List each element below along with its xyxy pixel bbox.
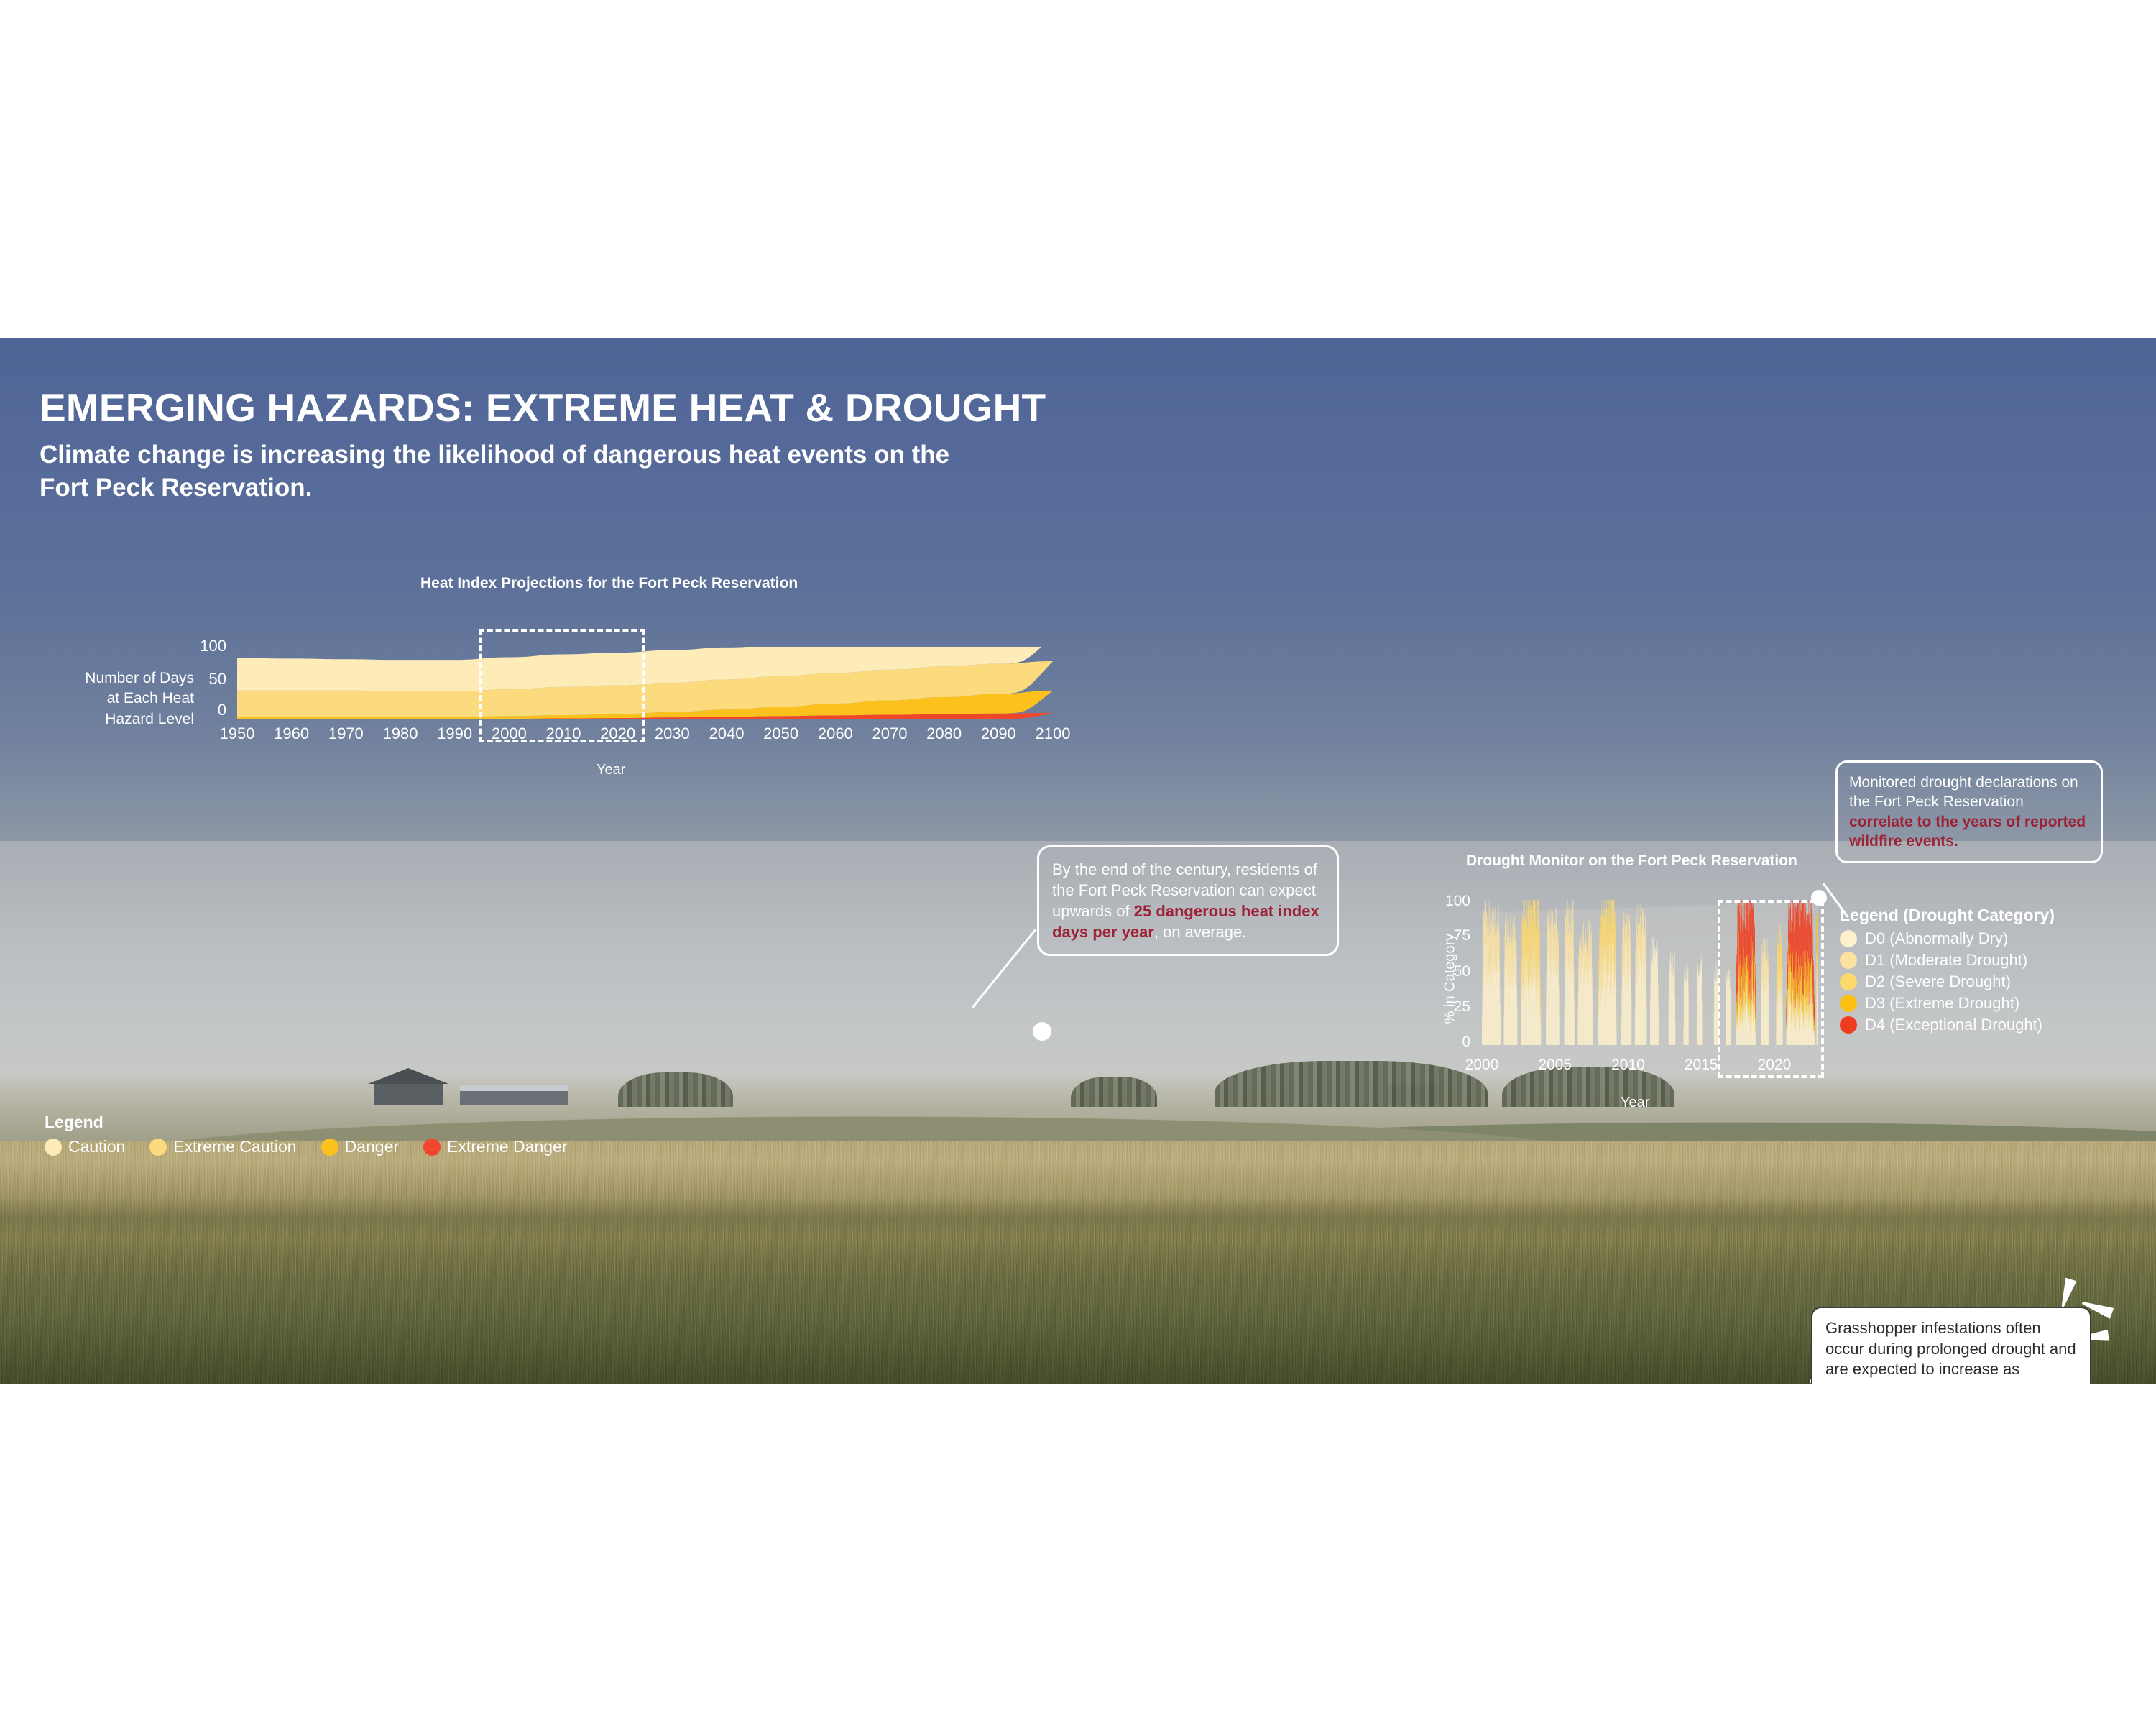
- heat-legend-item: Extreme Caution: [149, 1137, 296, 1156]
- page-title: EMERGING HAZARDS: EXTREME HEAT & DROUGHT: [40, 385, 1046, 431]
- drought-legend-items: D0 (Abnormally Dry)D1 (Moderate Drought)…: [1840, 929, 2055, 1034]
- drought-ytick-50: 50: [1434, 963, 1470, 980]
- drought-chart-x-axis-label: Year: [1621, 1095, 1649, 1111]
- treeline: [618, 1072, 733, 1107]
- drought-legend-label: D4 (Exceptional Drought): [1865, 1016, 2042, 1034]
- heat-legend-label: Extreme Danger: [447, 1137, 567, 1156]
- poster-panel: EMERGING HAZARDS: EXTREME HEAT & DROUGHT…: [0, 338, 2156, 1384]
- drought-xtick-2010: 2010: [1595, 1057, 1660, 1074]
- drought-callout-highlight: correlate to the years of reported wildf…: [1849, 814, 2086, 850]
- drought-xtick-2015: 2015: [1669, 1057, 1733, 1074]
- treeline: [1215, 1061, 1488, 1107]
- infographic-poster: EMERGING HAZARDS: EXTREME HEAT & DROUGHT…: [0, 0, 2156, 1725]
- drought-ytick-100: 100: [1434, 893, 1470, 910]
- legend-swatch-icon: [423, 1138, 441, 1156]
- heat-legend-item: Extreme Danger: [423, 1137, 567, 1156]
- drought-chart-legend: Legend (Drought Category) D0 (Abnormally…: [1840, 906, 2055, 1037]
- grasshopper-callout: Grasshopper infestations often occur dur…: [1811, 1307, 2091, 1384]
- drought-callout-anchor-dot: [1811, 890, 1827, 906]
- legend-swatch-icon: [1840, 1016, 1857, 1034]
- drought-legend-item: D4 (Exceptional Drought): [1840, 1016, 2055, 1034]
- drought-legend-item: D3 (Extreme Drought): [1840, 994, 2055, 1013]
- drought-ytick-75: 75: [1434, 927, 1470, 944]
- drought-ytick-25: 25: [1434, 998, 1470, 1016]
- page-subtitle: Climate change is increasing the likelih…: [40, 438, 1003, 505]
- legend-swatch-icon: [1840, 973, 1857, 990]
- drought-legend-item: D1 (Moderate Drought): [1840, 951, 2055, 970]
- drought-xtick-2005: 2005: [1523, 1057, 1588, 1074]
- heat-legend-label: Danger: [345, 1137, 399, 1156]
- heat-chart-title: Heat Index Projections for the Fort Peck…: [420, 575, 798, 592]
- heat-ytick-0: 0: [176, 701, 226, 719]
- drought-chart-callout: Monitored drought declarations on the Fo…: [1835, 760, 2103, 863]
- drought-xtick-2020: 2020: [1742, 1057, 1807, 1074]
- heat-ytick-50: 50: [176, 670, 226, 689]
- legend-swatch-icon: [149, 1138, 167, 1156]
- drought-legend-label: D1 (Moderate Drought): [1865, 951, 2027, 970]
- heat-legend-label: Extreme Caution: [173, 1137, 296, 1156]
- legend-swatch-icon: [45, 1138, 62, 1156]
- drought-chart-highlight-box: [1718, 900, 1824, 1078]
- heat-callout-text-after: , on average.: [1154, 923, 1246, 941]
- heat-legend-label: Caution: [68, 1137, 125, 1156]
- heat-callout-anchor-dot: [1033, 1022, 1051, 1041]
- drought-legend-title: Legend (Drought Category): [1840, 906, 2055, 925]
- drought-legend-label: D2 (Severe Drought): [1865, 972, 2011, 991]
- heat-ytick-100: 100: [176, 637, 226, 655]
- heat-legend-title: Legend: [45, 1113, 103, 1132]
- farmhouse-building: [374, 1084, 443, 1105]
- legend-swatch-icon: [1840, 930, 1857, 947]
- drought-legend-label: D0 (Abnormally Dry): [1865, 929, 2008, 948]
- drought-legend-item: D0 (Abnormally Dry): [1840, 929, 2055, 948]
- field-light-band: [791, 1172, 2156, 1206]
- legend-swatch-icon: [321, 1138, 338, 1156]
- drought-legend-label: D3 (Extreme Drought): [1865, 994, 2019, 1013]
- heat-chart-y-axis-label: Number of Days at Each Heat Hazard Level: [50, 668, 194, 730]
- drought-callout-text-before: Monitored drought declarations on the Fo…: [1849, 774, 2078, 810]
- legend-swatch-icon: [1840, 952, 1857, 969]
- heat-chart-x-axis-label: Year: [596, 762, 625, 778]
- legend-swatch-icon: [1840, 995, 1857, 1012]
- heat-chart-legend: CautionExtreme CautionDangerExtreme Dang…: [45, 1137, 586, 1156]
- barn-building: [460, 1091, 568, 1105]
- drought-chart-title: Drought Monitor on the Fort Peck Reserva…: [1466, 852, 1797, 870]
- heat-legend-item: Caution: [45, 1137, 125, 1156]
- heat-legend-item: Danger: [321, 1137, 399, 1156]
- heat-xtick-2100: 2100: [1021, 724, 1085, 743]
- treeline: [1071, 1077, 1157, 1107]
- heat-chart-callout: By the end of the century, residents of …: [1037, 845, 1339, 956]
- drought-ytick-0: 0: [1434, 1034, 1470, 1051]
- drought-xtick-2000: 2000: [1450, 1057, 1514, 1074]
- drought-legend-item: D2 (Severe Drought): [1840, 972, 2055, 991]
